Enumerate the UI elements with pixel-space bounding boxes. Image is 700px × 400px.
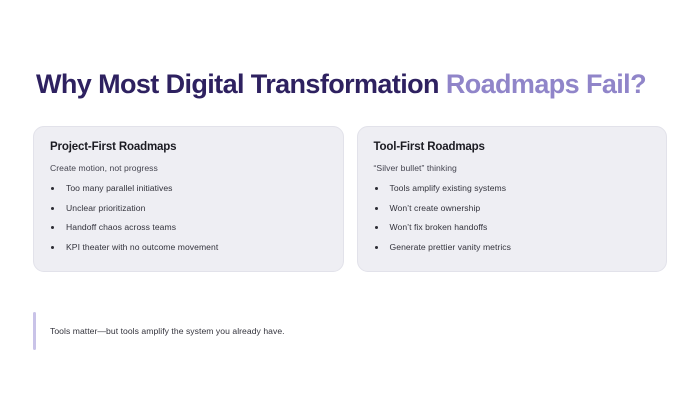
card-project-first-roadmaps: Project-First Roadmaps Create motion, no… xyxy=(33,126,344,272)
footer-callout: Tools matter—but tools amplify the syste… xyxy=(33,312,285,350)
list-item: Generate prettier vanity metrics xyxy=(374,242,651,253)
card-tool-first-roadmaps: Tool-First Roadmaps “Silver bullet” thin… xyxy=(357,126,668,272)
list-item-label: Generate prettier vanity metrics xyxy=(390,242,511,252)
list-item-label: KPI theater with no outcome movement xyxy=(66,242,218,252)
card-subtitle: Create motion, not progress xyxy=(50,163,327,173)
page-title-lead: Why Most Digital Transformation xyxy=(36,69,446,99)
list-item: Too many parallel initiatives xyxy=(50,183,327,194)
bullet-dot-icon xyxy=(51,226,54,229)
card-bullet-list: Tools amplify existing systems Won’t cre… xyxy=(374,183,651,253)
list-item: Unclear prioritization xyxy=(50,203,327,214)
list-item: Won’t create ownership xyxy=(374,203,651,214)
card-bullet-list: Too many parallel initiatives Unclear pr… xyxy=(50,183,327,253)
bullet-dot-icon xyxy=(51,246,54,249)
list-item-label: Handoff chaos across teams xyxy=(66,222,176,232)
comparison-cards: Project-First Roadmaps Create motion, no… xyxy=(33,126,667,272)
list-item-label: Won’t create ownership xyxy=(390,203,481,213)
bullet-dot-icon xyxy=(375,226,378,229)
bullet-dot-icon xyxy=(375,246,378,249)
list-item: KPI theater with no outcome movement xyxy=(50,242,327,253)
card-subtitle: “Silver bullet” thinking xyxy=(374,163,651,173)
bullet-dot-icon xyxy=(375,207,378,210)
list-item-label: Won’t fix broken handoffs xyxy=(390,222,488,232)
list-item: Tools amplify existing systems xyxy=(374,183,651,194)
list-item-label: Unclear prioritization xyxy=(66,203,145,213)
page-title: Why Most Digital Transformation Roadmaps… xyxy=(36,68,646,100)
list-item: Handoff chaos across teams xyxy=(50,222,327,233)
bullet-dot-icon xyxy=(51,187,54,190)
list-item-label: Too many parallel initiatives xyxy=(66,183,173,193)
callout-text: Tools matter—but tools amplify the syste… xyxy=(50,325,285,337)
slide-root: Why Most Digital Transformation Roadmaps… xyxy=(0,0,700,400)
card-heading: Tool-First Roadmaps xyxy=(374,141,651,153)
list-item-label: Tools amplify existing systems xyxy=(390,183,507,193)
bullet-dot-icon xyxy=(375,187,378,190)
list-item: Won’t fix broken handoffs xyxy=(374,222,651,233)
page-title-accent: Roadmaps Fail? xyxy=(446,69,646,99)
card-heading: Project-First Roadmaps xyxy=(50,141,327,153)
bullet-dot-icon xyxy=(51,207,54,210)
callout-accent-bar xyxy=(33,312,36,350)
